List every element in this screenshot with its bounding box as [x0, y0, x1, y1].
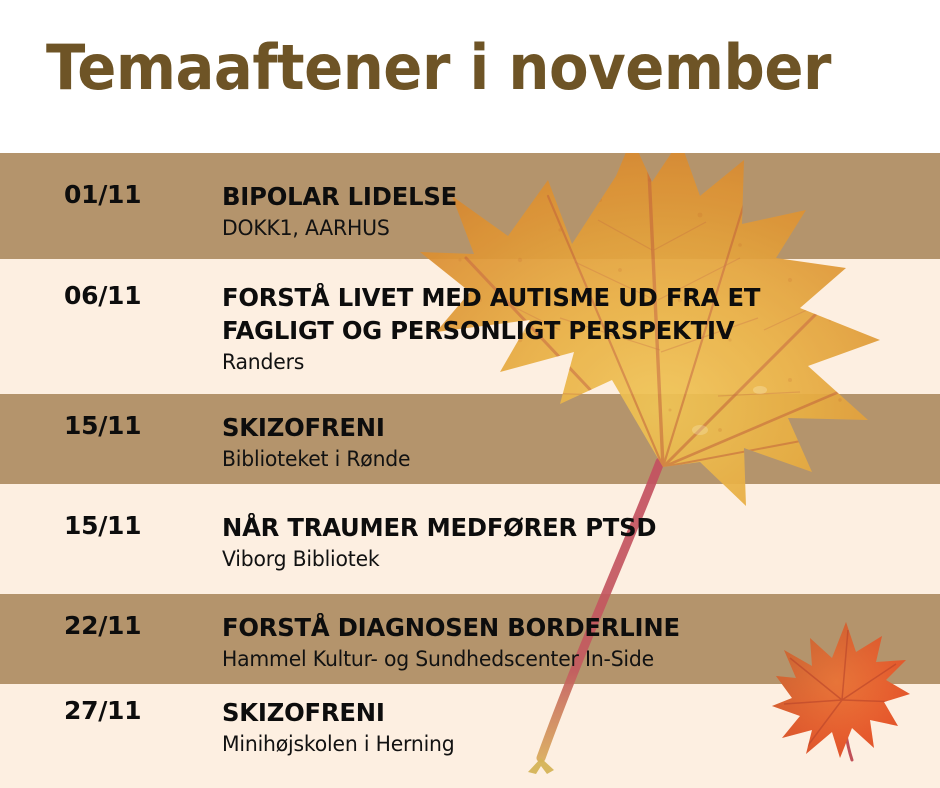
event-venue: Minihøjskolen i Herning	[222, 731, 901, 758]
event-venue: Randers	[222, 349, 901, 376]
event-body: FORSTÅ DIAGNOSEN BORDERLINE Hammel Kultu…	[222, 611, 922, 673]
event-title-line: FAGLIGT OG PERSONLIGT PERSPEKTIV	[222, 314, 901, 347]
event-venue: Viborg Bibliotek	[222, 546, 901, 573]
event-venue: Hammel Kultur- og Sundhedscenter In-Side	[222, 646, 901, 673]
event-title-line: BIPOLAR LIDELSE	[222, 180, 901, 213]
event-title-line: NÅR TRAUMER MEDFØRER PTSD	[222, 511, 901, 544]
event-date: 27/11	[64, 696, 141, 726]
event-venue: Biblioteket i Rønde	[222, 446, 901, 473]
event-date: 15/11	[64, 411, 141, 441]
event-title-line: SKIZOFRENI	[222, 696, 901, 729]
event-title-line: FORSTÅ LIVET MED AUTISME UD FRA ET	[222, 281, 901, 314]
event-date: 06/11	[64, 281, 141, 311]
event-title-line: SKIZOFRENI	[222, 411, 901, 444]
event-body: SKIZOFRENI Minihøjskolen i Herning	[222, 696, 922, 758]
event-date: 01/11	[64, 180, 141, 210]
schedule-list: 01/11 BIPOLAR LIDELSE DOKK1, AARHUS 06/1…	[0, 0, 940, 788]
event-body: NÅR TRAUMER MEDFØRER PTSD Viborg Bibliot…	[222, 511, 922, 573]
event-venue: DOKK1, AARHUS	[222, 215, 901, 242]
event-date: 22/11	[64, 611, 141, 641]
event-body: FORSTÅ LIVET MED AUTISME UD FRA ET FAGLI…	[222, 281, 922, 376]
event-body: SKIZOFRENI Biblioteket i Rønde	[222, 411, 922, 473]
event-body: BIPOLAR LIDELSE DOKK1, AARHUS	[222, 180, 922, 242]
event-title-line: FORSTÅ DIAGNOSEN BORDERLINE	[222, 611, 901, 644]
event-date: 15/11	[64, 511, 141, 541]
poster-canvas: Temaaftener i november 01/11 BIPOLAR LID…	[0, 0, 940, 788]
